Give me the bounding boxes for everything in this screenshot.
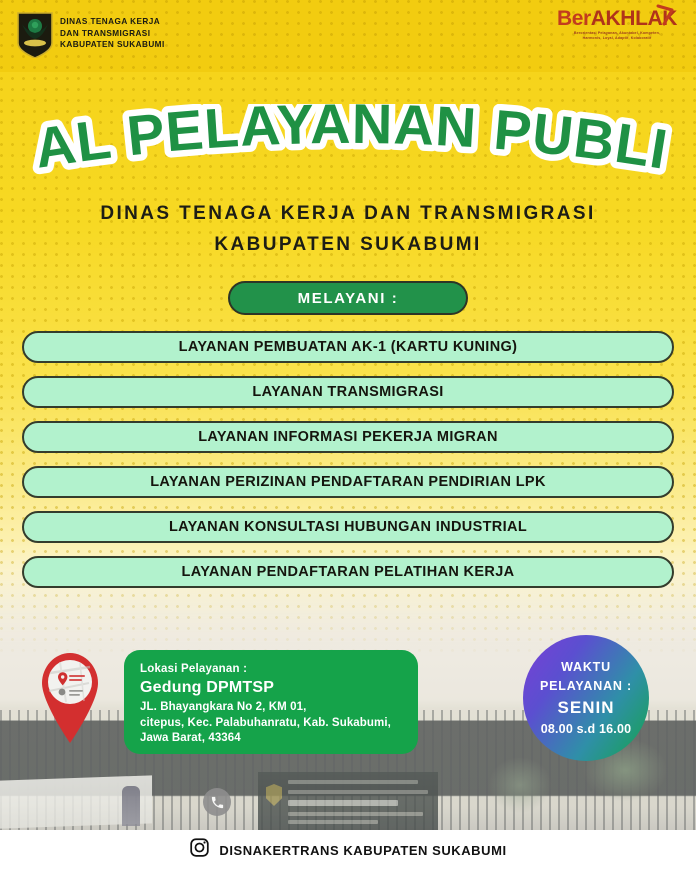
map-pin-icon xyxy=(32,647,108,745)
berakhlak-prefix: Ber xyxy=(557,7,591,30)
list-item[interactable]: LAYANAN KONSULTASI HUBUNGAN INDUSTRIAL xyxy=(22,511,674,543)
location-address-line-2: citepus, Kec. Palabuhanratu, Kab. Sukabu… xyxy=(140,716,402,732)
location-address-line-3: Jawa Barat, 43364 xyxy=(140,731,402,747)
list-item[interactable]: LAYANAN PEMBUATAN AK-1 (KARTU KUNING) xyxy=(22,331,674,363)
berakhlak-logo: BerAKHLAK Berorientasi Pelayanan, Akunta… xyxy=(556,8,678,41)
check-swoosh-icon xyxy=(656,4,674,26)
poster: DINAS TENAGA KERJA DAN TRANSMIGRASI KABU… xyxy=(0,0,696,870)
dept-line-1: DINAS TENAGA KERJA xyxy=(60,16,165,28)
list-item[interactable]: LAYANAN PENDAFTARAN PELATIHAN KERJA xyxy=(22,556,674,588)
service-time-day: SENIN xyxy=(558,696,615,720)
instagram-handle: DISNAKERTRANS KABUPATEN SUKABUMI xyxy=(219,843,506,858)
berakhlak-tagline: Berorientasi Pelayanan, Akuntabel, Kompe… xyxy=(556,31,678,41)
location-address-line-1: JL. Bhayangkara No 2, KM 01, xyxy=(140,700,402,716)
list-item[interactable]: LAYANAN TRANSMIGRASI xyxy=(22,376,674,408)
sukabumi-regency-crest-icon xyxy=(16,10,54,58)
instagram-icon[interactable] xyxy=(189,837,210,863)
location-card: Lokasi Pelayanan : Gedung DPMTSP JL. Bha… xyxy=(124,650,418,754)
page-subtitle: DINAS TENAGA KERJA DAN TRANSMIGRASI KABU… xyxy=(0,198,696,260)
dept-name: DINAS TENAGA KERJA DAN TRANSMIGRASI KABU… xyxy=(60,16,165,51)
list-item[interactable]: LAYANAN INFORMASI PEKERJA MIGRAN xyxy=(22,421,674,453)
footer: DISNAKERTRANS KABUPATEN SUKABUMI xyxy=(0,830,696,870)
background-banner-figure xyxy=(122,786,140,826)
location-label: Lokasi Pelayanan : xyxy=(140,661,402,677)
subtitle-line-2: KABUPATEN SUKABUMI xyxy=(0,229,696,260)
phone-icon xyxy=(203,788,231,816)
sign-crest-icon xyxy=(266,784,282,806)
location-building: Gedung DPMTSP xyxy=(140,677,402,699)
page-title: MAL PELAYANAN PUBLIK MAL PELAYANAN PUBLI… xyxy=(0,104,696,188)
dept-line-2: DAN TRANSMIGRASI xyxy=(60,28,165,40)
subtitle-line-1: DINAS TENAGA KERJA DAN TRANSMIGRASI xyxy=(0,198,696,229)
melayani-badge: MELAYANI : xyxy=(228,281,468,315)
list-item[interactable]: LAYANAN PERIZINAN PENDAFTARAN PENDIRIAN … xyxy=(22,466,674,498)
service-time-line-1: WAKTU xyxy=(561,658,611,677)
service-list: LAYANAN PEMBUATAN AK-1 (KARTU KUNING) LA… xyxy=(22,331,674,601)
background-office-sign xyxy=(258,772,438,830)
service-time-hours: 08.00 s.d 16.00 xyxy=(541,720,632,738)
berakhlak-tagline-2: Harmonis, Loyal, Adaptif, Kolaboratif xyxy=(556,36,678,41)
dept-line-3: KABUPATEN SUKABUMI xyxy=(60,39,165,51)
service-time-badge: WAKTU PELAYANAN : SENIN 08.00 s.d 16.00 xyxy=(523,635,649,761)
svg-text:MAL PELAYANAN PUBLIK: MAL PELAYANAN PUBLIK xyxy=(0,104,672,181)
service-time-line-2: PELAYANAN : xyxy=(540,677,632,696)
berakhlak-wordmark: BerAKHLAK xyxy=(556,8,678,30)
header: DINAS TENAGA KERJA DAN TRANSMIGRASI KABU… xyxy=(0,0,696,72)
